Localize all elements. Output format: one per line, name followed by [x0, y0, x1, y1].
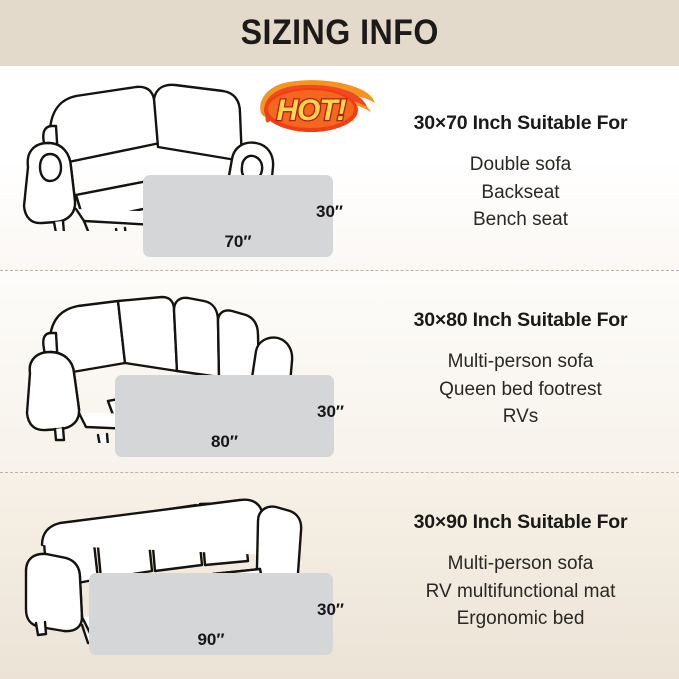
size-row-30x80: 80″ 30″ 30×80 Inch Suitable For Multi-pe…	[0, 271, 679, 473]
hot-badge-label: HOT!	[276, 94, 346, 127]
size-heading-row-3: 30×90 Inch Suitable For	[362, 511, 679, 534]
width-label-row-2: 80″	[115, 432, 334, 452]
measure-box-row-2: 80″	[115, 375, 334, 457]
use-item: Multi-person sofa	[362, 348, 679, 376]
sizing-info-infographic: SIZING INFO	[0, 0, 679, 679]
size-heading-row-1: 30×70 Inch Suitable For	[362, 112, 679, 135]
text-column-row-2: 30×80 Inch Suitable For Multi-person sof…	[362, 309, 679, 431]
size-row-30x70: 70″ 30″ HOT! 30×70 Inch Suitable For	[0, 66, 679, 271]
height-label-row-1: 30″	[316, 202, 343, 222]
use-item: Bench seat	[362, 206, 679, 234]
text-column-row-1: 30×70 Inch Suitable For Double sofa Back…	[362, 112, 679, 234]
use-item: Ergonomic bed	[362, 605, 679, 633]
use-item: Backseat	[362, 179, 679, 207]
measure-box-row-3: 90″	[89, 573, 333, 655]
width-label-row-3: 90″	[89, 630, 333, 650]
use-item: Multi-person sofa	[362, 550, 679, 578]
measure-box-row-1: 70″	[143, 175, 333, 257]
illustration-area-row-2: 80″ 30″	[0, 271, 360, 473]
use-item: RV multifunctional mat	[362, 578, 679, 606]
illustration-area-row-1: 70″ 30″ HOT!	[0, 66, 360, 271]
width-label-row-1: 70″	[143, 232, 333, 252]
hot-flame-badge-icon: HOT!	[255, 79, 377, 137]
illustration-area-row-3: 90″ 30″	[0, 473, 360, 679]
use-item: Queen bed footrest	[362, 376, 679, 404]
header-banner: SIZING INFO	[0, 0, 679, 66]
size-heading-row-2: 30×80 Inch Suitable For	[362, 309, 679, 332]
use-item: Double sofa	[362, 151, 679, 179]
use-item: RVs	[362, 403, 679, 431]
size-row-30x90: 90″ 30″ 30×90 Inch Suitable For Multi-pe…	[0, 473, 679, 679]
text-column-row-3: 30×90 Inch Suitable For Multi-person sof…	[362, 511, 679, 633]
page-title: SIZING INFO	[240, 13, 438, 53]
height-label-row-2: 30″	[317, 402, 344, 422]
height-label-row-3: 30″	[317, 600, 344, 620]
